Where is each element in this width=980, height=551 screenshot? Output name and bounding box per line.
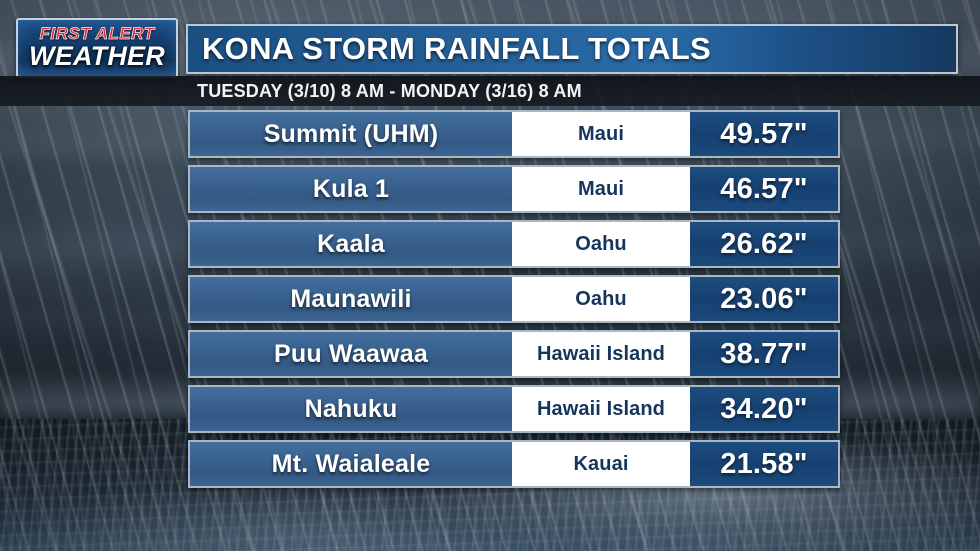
island-cell: Kauai <box>512 442 690 486</box>
rainfall-total-cell: 23.06" <box>690 277 838 321</box>
location-name-cell: Nahuku <box>190 387 512 431</box>
island-cell: Maui <box>512 167 690 211</box>
rainfall-total-cell: 46.57" <box>690 167 838 211</box>
rainfall-total-cell: 34.20" <box>690 387 838 431</box>
date-range-text: TUESDAY (3/10) 8 AM - MONDAY (3/16) 8 AM <box>0 81 582 102</box>
table-row: Summit (UHM)Maui49.57" <box>188 110 840 158</box>
rainfall-total-cell: 38.77" <box>690 332 838 376</box>
island-cell: Hawaii Island <box>512 387 690 431</box>
island-cell: Oahu <box>512 222 690 266</box>
page-title: KONA STORM RAINFALL TOTALS <box>188 31 711 67</box>
location-name-cell: Summit (UHM) <box>190 112 512 156</box>
table-row: NahukuHawaii Island34.20" <box>188 385 840 433</box>
table-row: Mt. WaialealeKauai21.58" <box>188 440 840 488</box>
location-name-cell: Maunawili <box>190 277 512 321</box>
rainfall-total-cell: 49.57" <box>690 112 838 156</box>
rainfall-total-cell: 26.62" <box>690 222 838 266</box>
table-row: Kula 1Maui46.57" <box>188 165 840 213</box>
rainfall-total-cell: 21.58" <box>690 442 838 486</box>
table-row: MaunawiliOahu23.06" <box>188 275 840 323</box>
table-row: Puu WaawaaHawaii Island38.77" <box>188 330 840 378</box>
first-alert-weather-logo: FIRST ALERT WEATHER <box>16 18 178 78</box>
island-cell: Maui <box>512 112 690 156</box>
island-cell: Oahu <box>512 277 690 321</box>
island-cell: Hawaii Island <box>512 332 690 376</box>
logo-weather-text: WEATHER <box>29 43 165 71</box>
table-row: KaalaOahu26.62" <box>188 220 840 268</box>
title-bar: KONA STORM RAINFALL TOTALS <box>186 24 958 74</box>
rainfall-totals-table: Summit (UHM)Maui49.57"Kula 1Maui46.57"Ka… <box>188 110 840 488</box>
location-name-cell: Kula 1 <box>190 167 512 211</box>
subtitle-bar: TUESDAY (3/10) 8 AM - MONDAY (3/16) 8 AM <box>0 76 980 106</box>
location-name-cell: Mt. Waialeale <box>190 442 512 486</box>
location-name-cell: Puu Waawaa <box>190 332 512 376</box>
location-name-cell: Kaala <box>190 222 512 266</box>
